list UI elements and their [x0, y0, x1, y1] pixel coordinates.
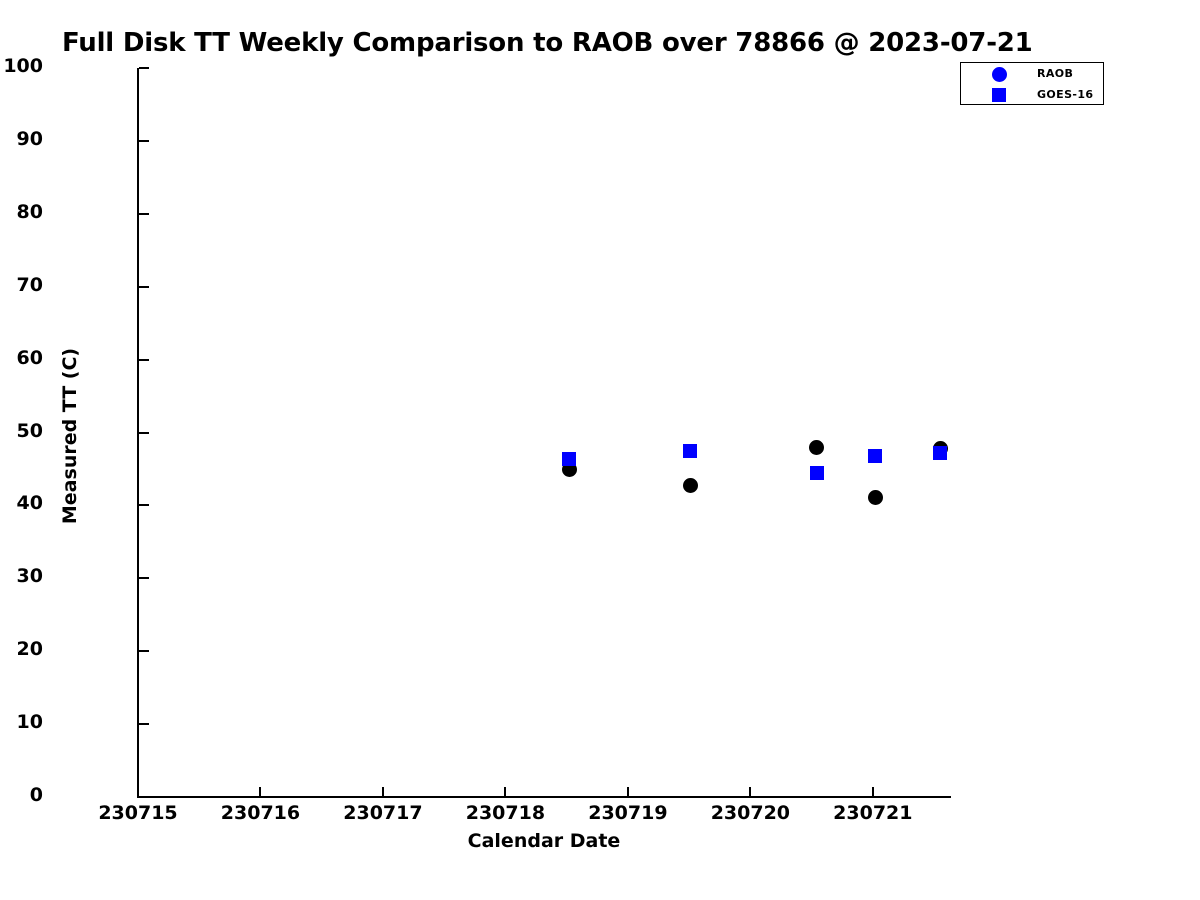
chart-title: Full Disk TT Weekly Comparison to RAOB o…: [62, 28, 1062, 58]
x-axis-label: Calendar Date: [344, 830, 744, 852]
x-tick-label: 230721: [793, 802, 953, 824]
y-tick-label: 10: [0, 711, 43, 733]
y-tick-label: 80: [0, 201, 43, 223]
chart-legend: RAOBGOES-16: [960, 62, 1104, 105]
data-point-goes-16: [868, 449, 882, 463]
plot-area: [138, 68, 950, 797]
data-point-raob: [809, 440, 824, 455]
legend-label: RAOB: [1037, 67, 1073, 80]
data-point-raob: [868, 490, 883, 505]
data-point-goes-16: [683, 444, 697, 458]
y-tick-label: 60: [0, 347, 43, 369]
data-point-goes-16: [810, 466, 824, 480]
chart-figure: Full Disk TT Weekly Comparison to RAOB o…: [0, 0, 1200, 900]
y-tick-label: 90: [0, 128, 43, 150]
legend-label: GOES-16: [1037, 88, 1094, 101]
data-point-goes-16: [562, 452, 576, 466]
legend-entry-goes-16[interactable]: GOES-16: [961, 85, 1105, 106]
y-tick-label: 0: [0, 784, 43, 806]
y-tick-label: 20: [0, 638, 43, 660]
y-axis-label: Measured TT (C): [59, 236, 81, 636]
legend-marker-circle-icon: [992, 67, 1007, 82]
legend-marker-square-icon: [992, 88, 1006, 102]
y-tick-label: 30: [0, 565, 43, 587]
data-point-raob: [683, 478, 698, 493]
y-tick-label: 50: [0, 420, 43, 442]
legend-entry-raob[interactable]: RAOB: [961, 64, 1105, 85]
data-point-goes-16: [933, 446, 947, 460]
y-tick-label: 40: [0, 492, 43, 514]
y-tick-label: 70: [0, 274, 43, 296]
y-tick-label: 100: [0, 55, 43, 77]
